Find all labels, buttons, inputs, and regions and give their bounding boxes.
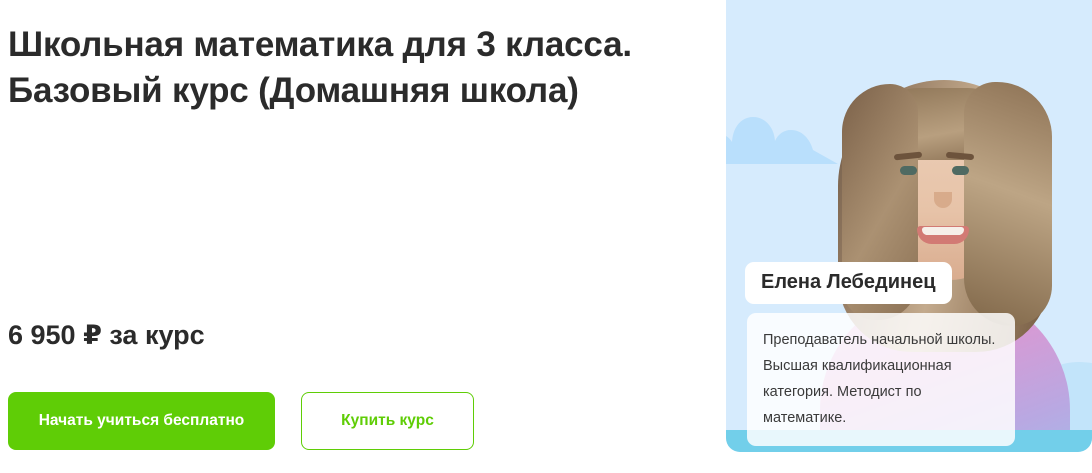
photo-eye-left	[900, 166, 917, 175]
photo-teeth	[922, 227, 964, 235]
cta-button-group: Начать учиться бесплатно Купить курс	[8, 392, 474, 450]
instructor-bio-card: Преподаватель начальной школы. Высшая кв…	[747, 313, 1015, 446]
photo-eye-right	[952, 166, 969, 175]
course-title: Школьная математика для 3 класса. Базовы…	[8, 22, 668, 114]
start-free-button[interactable]: Начать учиться бесплатно	[8, 392, 275, 450]
instructor-name-badge: Елена Лебединец	[745, 262, 952, 304]
course-title-line-2: Базовый курс (Домашняя школа)	[8, 68, 668, 114]
course-price: 6 950 ₽ за курс	[8, 320, 205, 351]
photo-hair-right	[964, 82, 1052, 326]
buy-course-button[interactable]: Купить курс	[301, 392, 474, 450]
course-hero-banner: Школьная математика для 3 класса. Базовы…	[0, 0, 1092, 473]
course-title-line-1: Школьная математика для 3 класса.	[8, 22, 668, 68]
instructor-bio-text: Преподаватель начальной школы. Высшая кв…	[763, 327, 999, 431]
course-info-column: Школьная математика для 3 класса. Базовы…	[0, 0, 700, 473]
